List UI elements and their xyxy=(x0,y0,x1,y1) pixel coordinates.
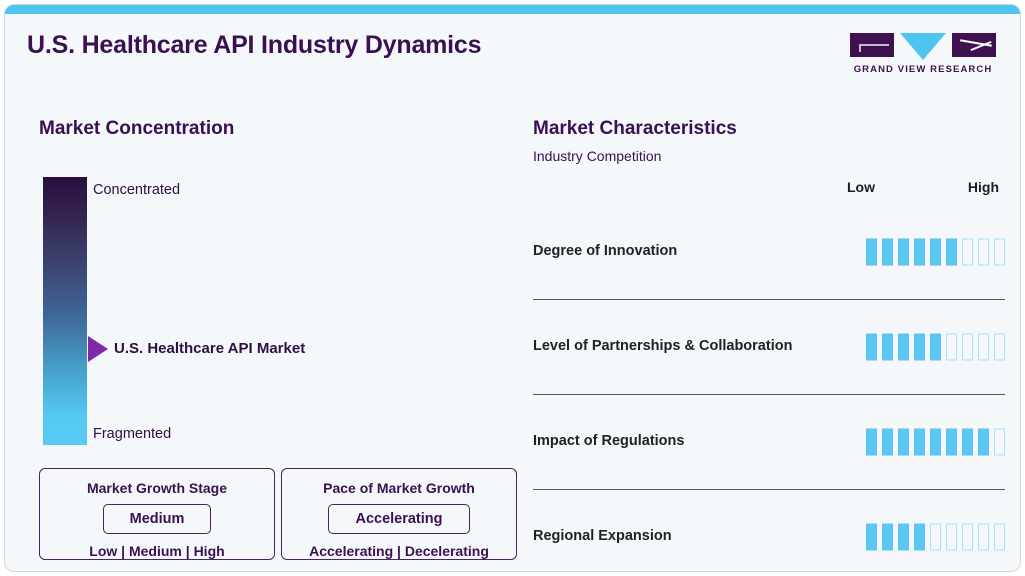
rating-bar-filled xyxy=(898,429,909,456)
rating-bar-filled xyxy=(882,239,893,266)
characteristic-row: Impact of Regulations xyxy=(533,395,1005,490)
characteristic-label: Degree of Innovation xyxy=(533,242,823,262)
rating-bar-filled xyxy=(930,429,941,456)
rating-bar-filled xyxy=(914,429,925,456)
rating-scale-legend: Low High xyxy=(847,179,999,195)
rating-bar-empty xyxy=(962,239,973,266)
infographic-card: U.S. Healthcare API Industry Dynamics GR… xyxy=(4,4,1021,572)
rating-bar-empty xyxy=(994,429,1005,456)
logo-r-block-icon xyxy=(952,33,996,57)
rating-bar-filled xyxy=(866,429,877,456)
pace-of-market-growth-value: Accelerating xyxy=(328,504,469,534)
rating-bar-empty xyxy=(946,524,957,551)
rating-bar-filled xyxy=(930,239,941,266)
rating-bar-empty xyxy=(994,334,1005,361)
rating-bar-filled xyxy=(866,524,877,551)
rating-bar-filled xyxy=(930,334,941,361)
rating-bar-empty xyxy=(978,239,989,266)
rating-scale-high-label: High xyxy=(968,179,999,195)
logo-marks xyxy=(850,33,996,59)
rating-bars xyxy=(866,239,1005,266)
rating-bar-filled xyxy=(946,239,957,266)
concentration-gradient-bar xyxy=(43,177,87,445)
rating-bars xyxy=(866,524,1005,551)
scale-label-concentrated: Concentrated xyxy=(93,182,180,198)
pace-of-market-growth-title: Pace of Market Growth xyxy=(282,480,516,496)
pace-of-market-growth-box: Pace of Market Growth Accelerating Accel… xyxy=(281,468,517,560)
brand-logo: GRAND VIEW RESEARCH xyxy=(850,33,996,75)
market-growth-stage-title: Market Growth Stage xyxy=(40,480,274,496)
rating-bar-empty xyxy=(994,524,1005,551)
market-characteristics-panel: Market Characteristics Industry Competit… xyxy=(525,100,1015,572)
market-growth-stage-box: Market Growth Stage Medium Low | Medium … xyxy=(39,468,275,560)
rating-bar-filled xyxy=(962,429,973,456)
rating-bar-filled xyxy=(946,429,957,456)
scale-label-fragmented: Fragmented xyxy=(93,426,171,442)
rating-bar-filled xyxy=(882,429,893,456)
market-position-label: U.S. Healthcare API Market xyxy=(114,340,305,357)
characteristics-rows: Degree of InnovationLevel of Partnership… xyxy=(533,205,1005,572)
rating-bar-filled xyxy=(866,239,877,266)
characteristic-row: Degree of Innovation xyxy=(533,205,1005,300)
pace-of-market-growth-options: Accelerating | Decelerating xyxy=(282,543,516,559)
logo-wordmark: GRAND VIEW RESEARCH xyxy=(850,64,996,75)
rating-bar-empty xyxy=(930,524,941,551)
rating-bar-filled xyxy=(898,524,909,551)
top-accent-bar xyxy=(5,5,1020,14)
market-concentration-panel: Market Concentration Concentrated Fragme… xyxy=(5,100,515,572)
rating-bar-filled xyxy=(882,334,893,361)
rating-bar-empty xyxy=(962,334,973,361)
characteristic-row: Level of Partnerships & Collaboration xyxy=(533,300,1005,395)
market-growth-stage-options: Low | Medium | High xyxy=(40,543,274,559)
market-concentration-heading: Market Concentration xyxy=(39,118,234,140)
market-position-pointer-icon xyxy=(88,336,108,362)
characteristic-row: Regional Expansion xyxy=(533,490,1005,572)
rating-bars xyxy=(866,429,1005,456)
rating-bar-empty xyxy=(946,334,957,361)
rating-bar-filled xyxy=(978,429,989,456)
rating-bar-filled xyxy=(914,524,925,551)
rating-bar-filled xyxy=(898,334,909,361)
characteristic-label: Level of Partnerships & Collaboration xyxy=(533,337,823,357)
rating-bar-filled xyxy=(866,334,877,361)
rating-scale-low-label: Low xyxy=(847,179,875,195)
characteristic-label: Impact of Regulations xyxy=(533,432,823,452)
market-characteristics-heading: Market Characteristics xyxy=(533,118,737,140)
market-growth-stage-value: Medium xyxy=(103,504,212,534)
rating-bar-empty xyxy=(994,239,1005,266)
rating-bar-empty xyxy=(962,524,973,551)
rating-bar-filled xyxy=(882,524,893,551)
characteristic-label: Regional Expansion xyxy=(533,527,823,547)
logo-g-block-icon xyxy=(850,33,894,57)
rating-bar-empty xyxy=(978,524,989,551)
logo-v-triangle-icon xyxy=(900,33,946,60)
page-title: U.S. Healthcare API Industry Dynamics xyxy=(27,31,481,60)
market-characteristics-subheading: Industry Competition xyxy=(533,148,661,164)
rating-bars xyxy=(866,334,1005,361)
rating-bar-empty xyxy=(978,334,989,361)
rating-bar-filled xyxy=(914,334,925,361)
rating-bar-filled xyxy=(898,239,909,266)
rating-bar-filled xyxy=(914,239,925,266)
